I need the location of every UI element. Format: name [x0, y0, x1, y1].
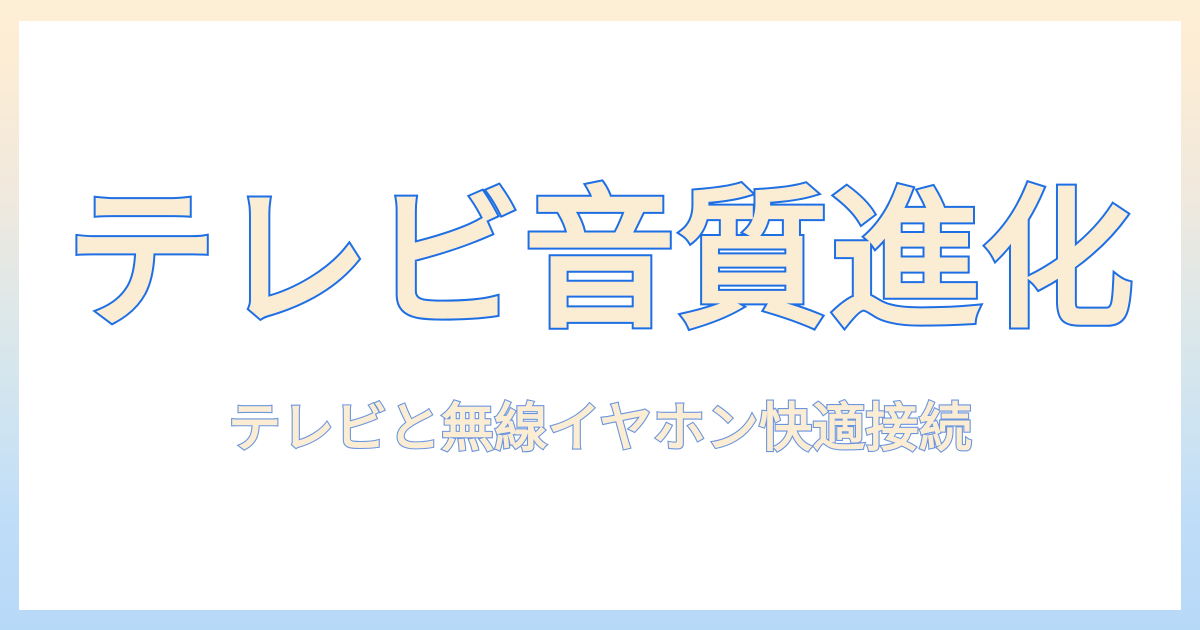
banner-subtitle: テレビと無線イヤホン快適接続: [19, 399, 1181, 458]
banner-content: テレビ音質進化 テレビと無線イヤホン快適接続: [19, 21, 1181, 610]
banner-canvas: テレビ音質進化 テレビと無線イヤホン快適接続: [0, 0, 1200, 630]
banner-title: テレビ音質進化: [19, 179, 1181, 343]
subtitle-block: テレビと無線イヤホン快適接続: [19, 399, 1181, 458]
title-block: テレビ音質進化: [19, 179, 1181, 343]
white-card-panel: テレビ音質進化 テレビと無線イヤホン快適接続: [19, 21, 1181, 610]
